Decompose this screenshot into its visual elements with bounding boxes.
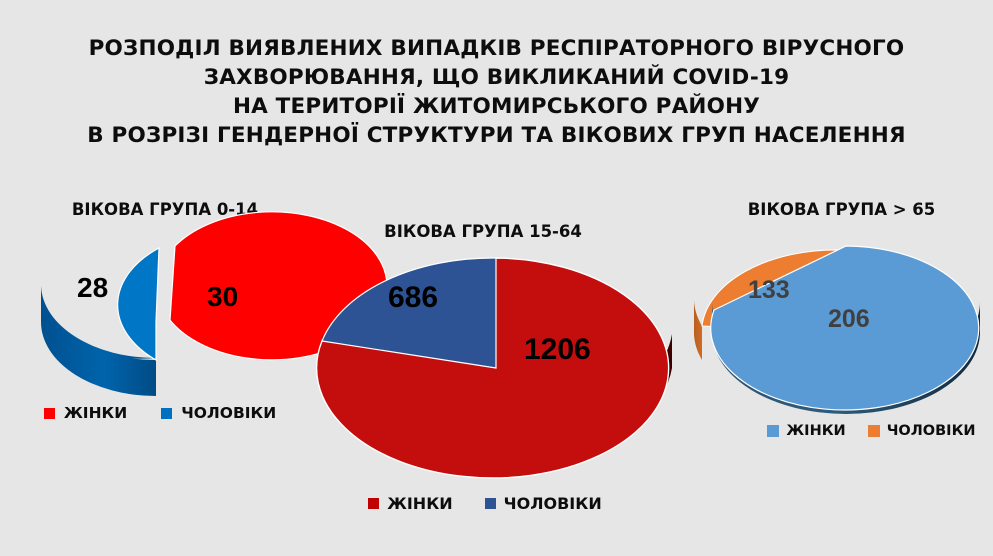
pie-chart-age-15-64 <box>316 248 676 483</box>
legend-swatch-icon-men <box>161 408 172 419</box>
legend-item-men-age-over-65[interactable]: ЧОЛОВІКИ <box>868 423 976 439</box>
legend-item-men-age-0-14[interactable]: ЧОЛОВІКИ <box>161 404 276 422</box>
page-title-line-4: В РОЗРІЗІ ГЕНДЕРНОЇ СТРУКТУРИ ТА ВІКОВИХ… <box>0 121 993 150</box>
legend-swatch-icon-women <box>368 498 379 509</box>
legend-item-men-age-15-64[interactable]: ЧОЛОВІКИ <box>485 494 602 513</box>
pie-slice-men-side <box>694 296 702 360</box>
legend-label-women: ЖІНКИ <box>64 404 127 422</box>
page-title: РОЗПОДІЛ ВИЯВЛЕНИХ ВИПАДКІВ РЕСПІРАТОРНО… <box>0 34 993 150</box>
page-title-line-3: НА ТЕРИТОРІЇ ЖИТОМИРСЬКОГО РАЙОНУ <box>0 92 993 121</box>
legend-label-men: ЧОЛОВІКИ <box>887 423 976 439</box>
legend-item-women-age-15-64[interactable]: ЖІНКИ <box>368 494 452 513</box>
legend-item-women-age-0-14[interactable]: ЖІНКИ <box>44 404 127 422</box>
pie-chart-age-over-65 <box>700 240 990 415</box>
legend-label-women: ЖІНКИ <box>387 494 452 513</box>
pie-slice-men-top <box>118 248 159 360</box>
legend-swatch-icon-men <box>868 425 880 437</box>
legend-label-men: ЧОЛОВІКИ <box>181 404 276 422</box>
legend-label-men: ЧОЛОВІКИ <box>504 494 602 513</box>
slide-canvas: РОЗПОДІЛ ВИЯВЛЕНИХ ВИПАДКІВ РЕСПІРАТОРНО… <box>0 0 993 556</box>
legend-label-women: ЖІНКИ <box>786 423 845 439</box>
legend-swatch-icon-men <box>485 498 496 509</box>
legend-swatch-icon-women <box>44 408 55 419</box>
page-title-line-2: ЗАХВОРЮВАННЯ, ЩО ВИКЛИКАНИЙ COVID-19 <box>0 63 993 92</box>
pie-chart-age-0-14 <box>18 238 318 408</box>
legend-swatch-icon-women <box>767 425 779 437</box>
legend-item-women-age-over-65[interactable]: ЖІНКИ <box>767 423 845 439</box>
chart-title-age-over-65: ВІКОВА ГРУПА > 65 <box>690 200 993 219</box>
legend-age-15-64: ЖІНКИ ЧОЛОВІКИ <box>330 494 640 513</box>
legend-age-over-65: ЖІНКИ ЧОЛОВІКИ <box>750 423 993 439</box>
page-title-line-1: РОЗПОДІЛ ВИЯВЛЕНИХ ВИПАДКІВ РЕСПІРАТОРНО… <box>0 34 993 63</box>
legend-age-0-14: ЖІНКИ ЧОЛОВІКИ <box>10 404 310 422</box>
chart-title-age-15-64: ВІКОВА ГРУПА 15-64 <box>318 222 648 241</box>
